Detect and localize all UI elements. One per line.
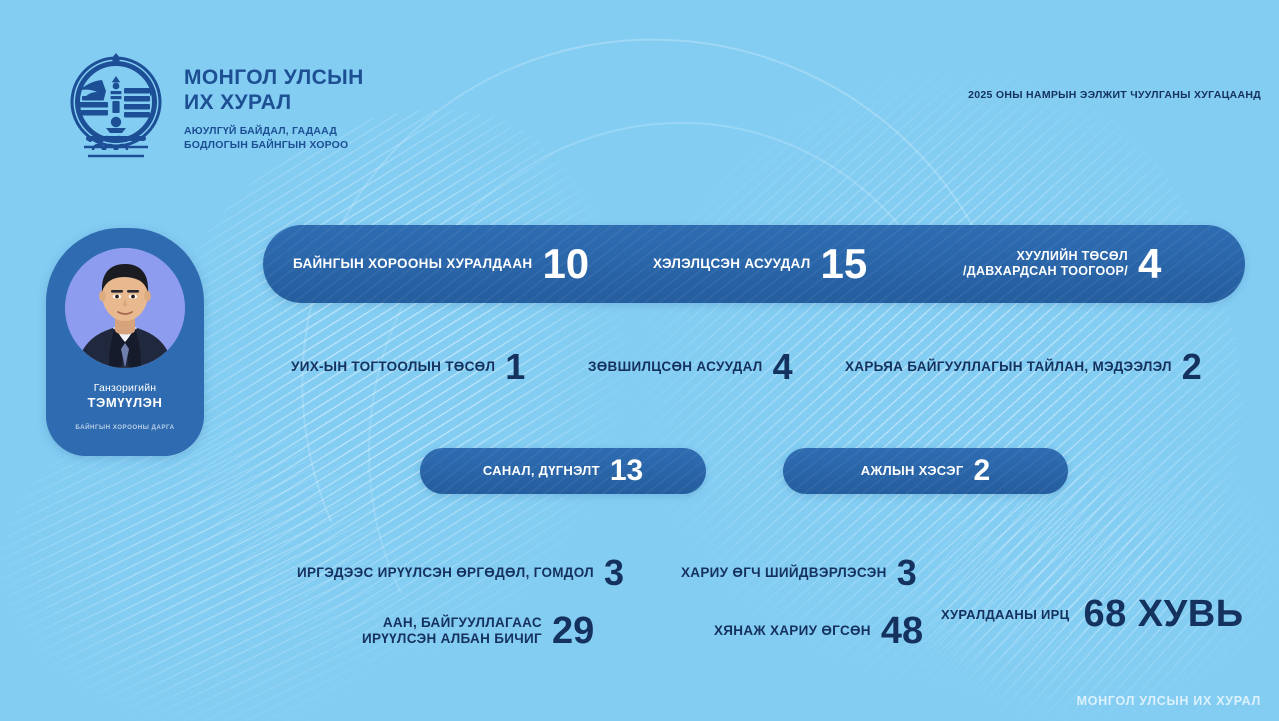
stat-value: 3 xyxy=(897,556,917,590)
stat-label: ААН, БАЙГУУЛЛАГААС ИРҮҮЛСЭН АЛБАН БИЧИГ xyxy=(362,615,542,647)
stat-label: ХАРИУ ӨГЧ ШИЙДВЭРЛЭСЭН xyxy=(681,565,887,581)
stat-label: ХАРЬЯА БАЙГУУЛЛАГЫН ТАЙЛАН, МЭДЭЭЛЭЛ xyxy=(845,359,1172,375)
stat-value: 2 xyxy=(1182,350,1202,384)
stat-agreed-issues: ЗӨВШИЛЦСӨН АСУУДАЛ 4 xyxy=(588,350,793,384)
chairman-profile-card: Ганзоригийн ТЭМҮҮЛЭН БАЙНГЫН ХОРООНЫ ДАР… xyxy=(46,228,204,456)
stat-label: САНАЛ, ДҮГНЭЛТ xyxy=(483,463,600,478)
stat-citizen-petitions: ИРГЭДЭЭС ИРҮҮЛСЭН ӨРГӨДӨЛ, ГОМДОЛ 3 xyxy=(297,556,624,590)
stat-value: 13 xyxy=(610,457,643,486)
stat-opinions-conclusions: САНАЛ, ДҮГНЭЛТ 13 xyxy=(483,457,643,486)
header: МОНГОЛ УЛСЫН ИХ ХУРАЛ АЮУЛГҮЙ БАЙДАЛ, ГА… xyxy=(0,0,1279,180)
chairman-last-name: ТЭМҮҮЛЭН xyxy=(87,395,162,411)
stat-value: 4 xyxy=(1138,244,1161,284)
chairman-role: БАЙНГЫН ХОРООНЫ ДАРГА xyxy=(75,424,174,431)
stat-value: 10 xyxy=(542,244,589,284)
stat-value: 29 xyxy=(552,613,594,649)
watermark: МОНГОЛ УЛСЫН ИХ ХУРАЛ xyxy=(1077,694,1261,708)
stat-value: 3 xyxy=(604,556,624,590)
stat-value: 2 xyxy=(974,457,991,486)
stat-subordinate-agency-reports: ХАРЬЯА БАЙГУУЛЛАГЫН ТАЙЛАН, МЭДЭЭЛЭЛ 2 xyxy=(845,350,1202,384)
stat-draft-laws: ХУУЛИЙН ТӨСӨЛ /ДАВХАРДСАН ТООГООР/ 4 xyxy=(963,244,1161,284)
stat-label: ХЯНАЖ ХАРИУ ӨГСӨН xyxy=(714,623,871,639)
attendance-value: 68 ХУВЬ xyxy=(1083,596,1243,632)
stat-label: БАЙНГЫН ХОРООНЫ ХУРАЛДААН xyxy=(293,256,532,272)
stat-value: 48 xyxy=(881,613,923,649)
organization-title: МОНГОЛ УЛСЫН ИХ ХУРАЛ xyxy=(184,66,364,116)
stat-letters-reviewed-answered: ХЯНАЖ ХАРИУ ӨГСӨН 48 xyxy=(714,613,923,649)
stat-label: ЗӨВШИЛЦСӨН АСУУДАЛ xyxy=(588,359,763,375)
committee-name: АЮУЛГҮЙ БАЙДАЛ, ГАДААД БОДЛОГЫН БАЙНГЫН … xyxy=(184,124,364,152)
stat-label: УИХ-ЫН ТОГТООЛЫН ТӨСӨЛ xyxy=(291,359,495,375)
stat-label: ХЭЛЭЛЦСЭН АСУУДАЛ xyxy=(653,256,811,272)
stat-value: 15 xyxy=(821,244,868,284)
stat-label: ХУУЛИЙН ТӨСӨЛ /ДАВХАРДСАН ТООГООР/ xyxy=(963,249,1128,279)
primary-stats-pill: БАЙНГЫН ХОРООНЫ ХУРАЛДААН 10 ХЭЛЭЛЦСЭН А… xyxy=(263,225,1245,303)
stat-standing-committee-sessions: БАЙНГЫН ХОРООНЫ ХУРАЛДААН 10 xyxy=(293,244,589,284)
stat-label: ИРГЭДЭЭС ИРҮҮЛСЭН ӨРГӨДӨЛ, ГОМДОЛ xyxy=(297,565,594,581)
avatar xyxy=(65,248,185,368)
working-groups-pill: АЖЛЫН ХЭСЭГ 2 xyxy=(783,448,1068,494)
chairman-name: Ганзоригийн ТЭМҮҮЛЭН xyxy=(87,382,162,411)
organization-text: МОНГОЛ УЛСЫН ИХ ХУРАЛ АЮУЛГҮЙ БАЙДАЛ, ГА… xyxy=(184,50,364,152)
stat-discussed-issues: ХЭЛЭЛЦСЭН АСУУДАЛ 15 xyxy=(653,244,867,284)
opinions-conclusions-pill: САНАЛ, ДҮГНЭЛТ 13 xyxy=(420,448,706,494)
stat-value: 1 xyxy=(505,350,525,384)
organization-logo-block: МОНГОЛ УЛСЫН ИХ ХУРАЛ АЮУЛГҮЙ БАЙДАЛ, ГА… xyxy=(62,50,364,162)
stat-petitions-resolved: ХАРИУ ӨГЧ ШИЙДВЭРЛЭСЭН 3 xyxy=(681,556,917,590)
stat-value: 4 xyxy=(773,350,793,384)
session-period-note: 2025 ОНЫ НАМРЫН ЭЭЛЖИТ ЧУУЛГАНЫ ХУГАЦААН… xyxy=(968,89,1261,101)
chairman-first-name: Ганзоригийн xyxy=(87,382,162,395)
soyombo-state-emblem-icon xyxy=(62,50,170,162)
stat-draft-resolutions: УИХ-ЫН ТОГТООЛЫН ТӨСӨЛ 1 xyxy=(291,350,525,384)
stat-label: АЖЛЫН ХЭСЭГ xyxy=(861,463,964,478)
attendance-label: ХУРАЛДААНЫ ИРЦ xyxy=(941,607,1069,622)
background-hatch-pattern xyxy=(857,396,1279,721)
stat-working-groups: АЖЛЫН ХЭСЭГ 2 xyxy=(861,457,990,486)
attendance-block: ХУРАЛДААНЫ ИРЦ 68 ХУВЬ xyxy=(941,596,1244,632)
stat-official-letters-received: ААН, БАЙГУУЛЛАГААС ИРҮҮЛСЭН АЛБАН БИЧИГ … xyxy=(362,613,594,649)
